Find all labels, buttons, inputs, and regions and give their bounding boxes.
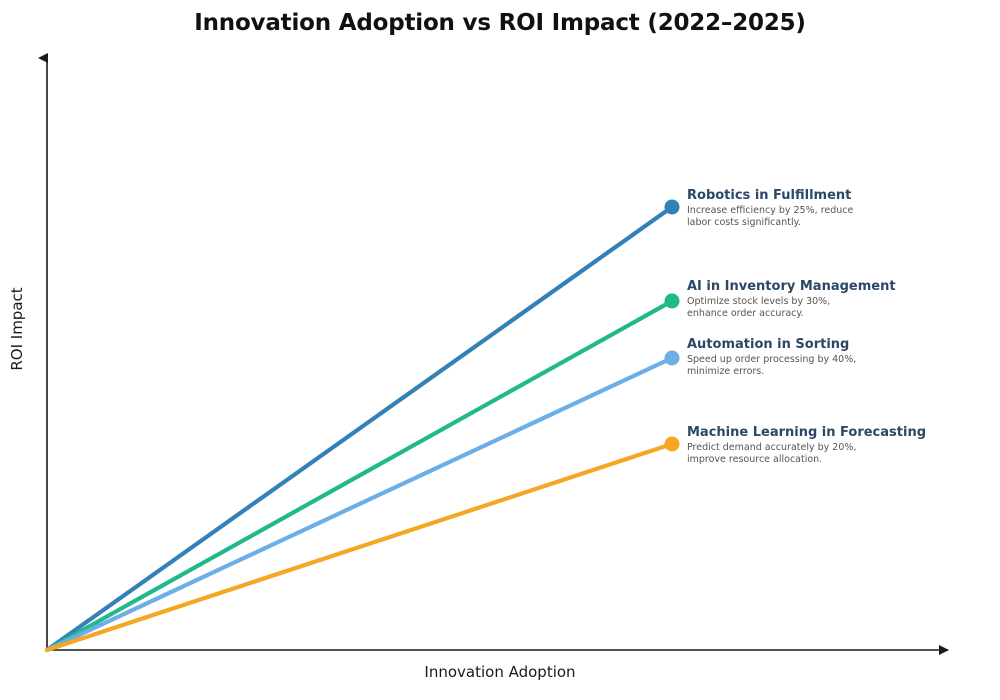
y-axis-label: ROI Impact <box>8 279 26 379</box>
series-annotation-description: Predict demand accurately by 20%,improve… <box>687 442 926 465</box>
series-endpoint-marker[interactable] <box>665 351 680 366</box>
series-annotation-description-line: Predict demand accurately by 20%, <box>687 442 926 454</box>
series-annotation-title: Robotics in Fulfillment <box>687 188 853 203</box>
series-line <box>47 358 672 650</box>
series-annotation: AI in Inventory ManagementOptimize stock… <box>687 279 896 319</box>
series-annotation: Automation in SortingSpeed up order proc… <box>687 337 856 377</box>
series-annotation-title: AI in Inventory Management <box>687 279 896 294</box>
series-annotation-description-line: Optimize stock levels by 30%, <box>687 296 896 308</box>
series-annotation-description-line: enhance order accuracy. <box>687 308 896 320</box>
series-annotation-description-line: labor costs significantly. <box>687 217 853 229</box>
series-annotation: Robotics in FulfillmentIncrease efficien… <box>687 188 853 228</box>
chart-canvas: Innovation Adoption vs ROI Impact (2022–… <box>0 0 1000 700</box>
series-annotation-description-line: Increase efficiency by 25%, reduce <box>687 205 853 217</box>
series-annotation-title: Automation in Sorting <box>687 337 856 352</box>
series-line <box>47 207 672 650</box>
series-endpoint-marker[interactable] <box>665 200 680 215</box>
series-annotation-description-line: minimize errors. <box>687 366 856 378</box>
series-annotation-description: Increase efficiency by 25%, reducelabor … <box>687 205 853 228</box>
series-annotation-description-line: improve resource allocation. <box>687 454 926 466</box>
series-layer <box>47 200 680 651</box>
series-annotation: Machine Learning in ForecastingPredict d… <box>687 425 926 465</box>
x-axis-label: Innovation Adoption <box>0 663 1000 681</box>
series-annotation-description: Optimize stock levels by 30%,enhance ord… <box>687 296 896 319</box>
series-endpoint-marker[interactable] <box>665 437 680 452</box>
series-endpoint-marker[interactable] <box>665 294 680 309</box>
series-annotation-description: Speed up order processing by 40%,minimiz… <box>687 354 856 377</box>
series-annotation-title: Machine Learning in Forecasting <box>687 425 926 440</box>
series-annotation-description-line: Speed up order processing by 40%, <box>687 354 856 366</box>
